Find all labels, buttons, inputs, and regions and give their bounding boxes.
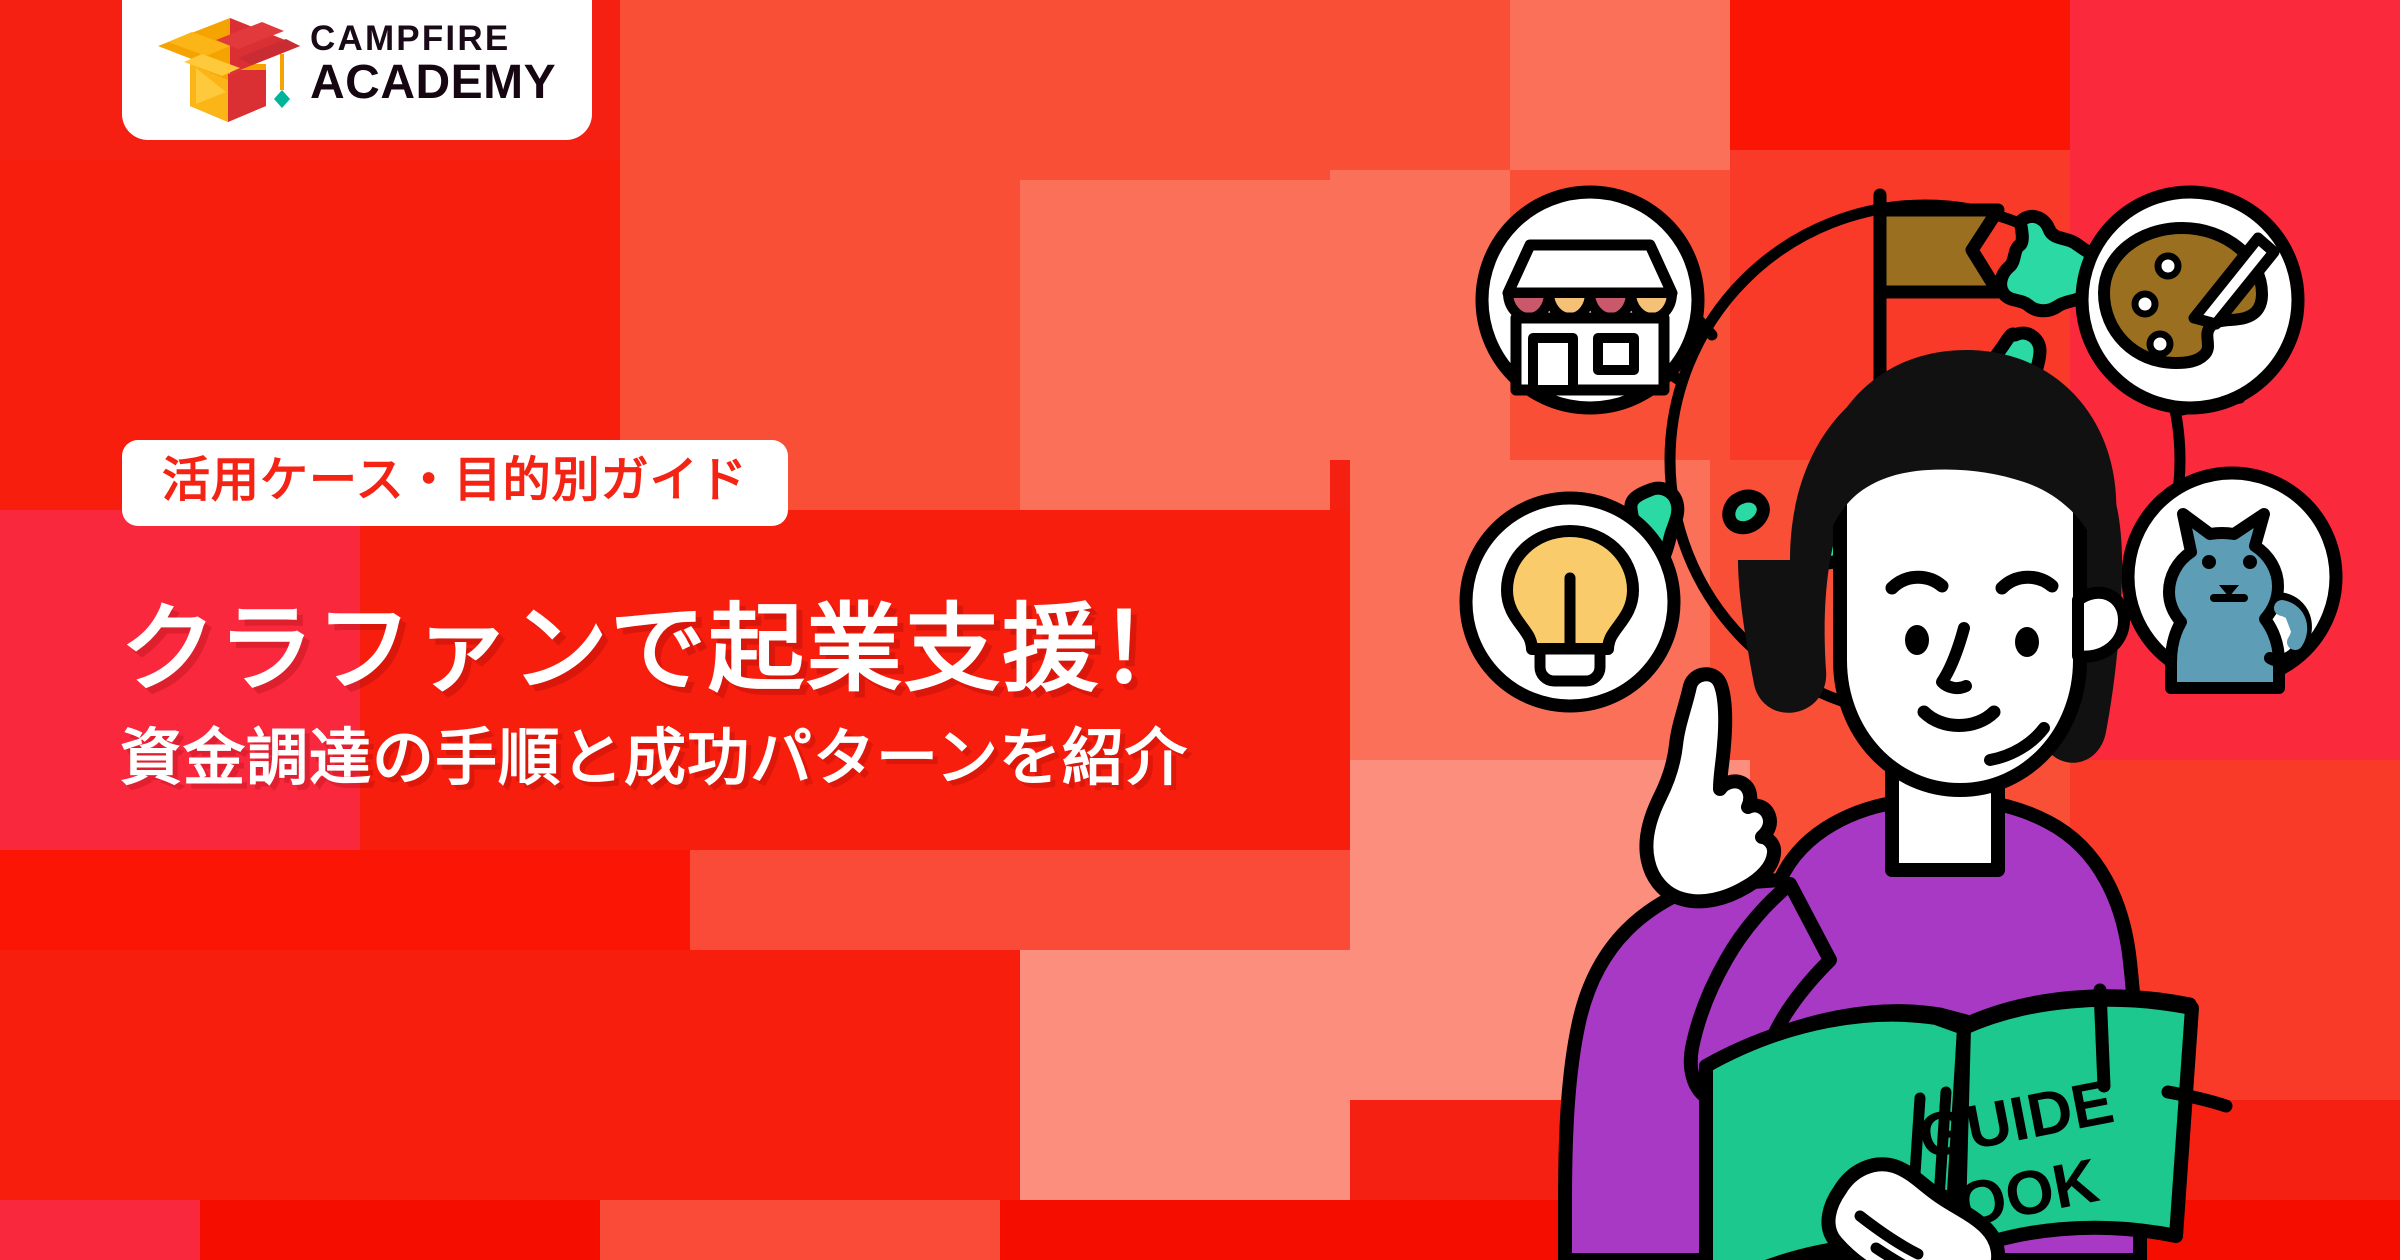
mosaic-tile	[0, 1200, 200, 1260]
graduation-cap-icon	[156, 10, 304, 122]
mosaic-tile	[200, 1200, 600, 1260]
category-badge-label: 活用ケース・目的別ガイド	[162, 457, 748, 505]
page-title: クラファンで起業支援！	[120, 595, 1198, 704]
hero-banner: GUIDE BOOK	[0, 0, 2400, 1260]
category-badge: 活用ケース・目的別ガイド	[122, 440, 788, 526]
mosaic-tile	[0, 850, 690, 950]
mosaic-tile	[0, 950, 1020, 1200]
logo-card[interactable]: CAMPFIRE ACADEMY	[122, 0, 592, 140]
mosaic-tile	[1350, 460, 1710, 760]
mosaic-tile	[1750, 760, 2070, 1100]
mosaic-tile	[1020, 180, 1330, 510]
page-subtitle: 資金調達の手順と成功パターンを紹介	[120, 722, 1198, 796]
mosaic-tile	[1000, 1200, 2400, 1260]
mosaic-tile	[1020, 950, 1350, 1200]
mosaic-tile	[1710, 460, 2070, 760]
mosaic-tile	[1730, 0, 2070, 150]
mosaic-tile	[2070, 170, 2400, 460]
mosaic-tile	[2070, 0, 2400, 170]
logo-text-academy: ACADEMY	[310, 59, 556, 107]
logo-text-campfire: CAMPFIRE	[310, 21, 556, 56]
mosaic-tile	[1020, 0, 1330, 180]
headline-block: クラファンで起業支援！ 資金調達の手順と成功パターンを紹介	[120, 595, 1198, 797]
mosaic-tile	[690, 850, 1350, 950]
mosaic-tile	[1330, 170, 1510, 460]
mosaic-tile	[600, 1200, 1000, 1260]
mosaic-tile	[1730, 150, 2070, 460]
mosaic-tile	[1510, 0, 1730, 170]
mosaic-tile	[2070, 460, 2400, 760]
mosaic-tile	[1510, 170, 1730, 460]
mosaic-tile	[2070, 760, 2400, 1100]
mosaic-tile	[1330, 0, 1510, 170]
mosaic-tile	[1350, 760, 1750, 1100]
mosaic-tile	[620, 0, 1020, 180]
